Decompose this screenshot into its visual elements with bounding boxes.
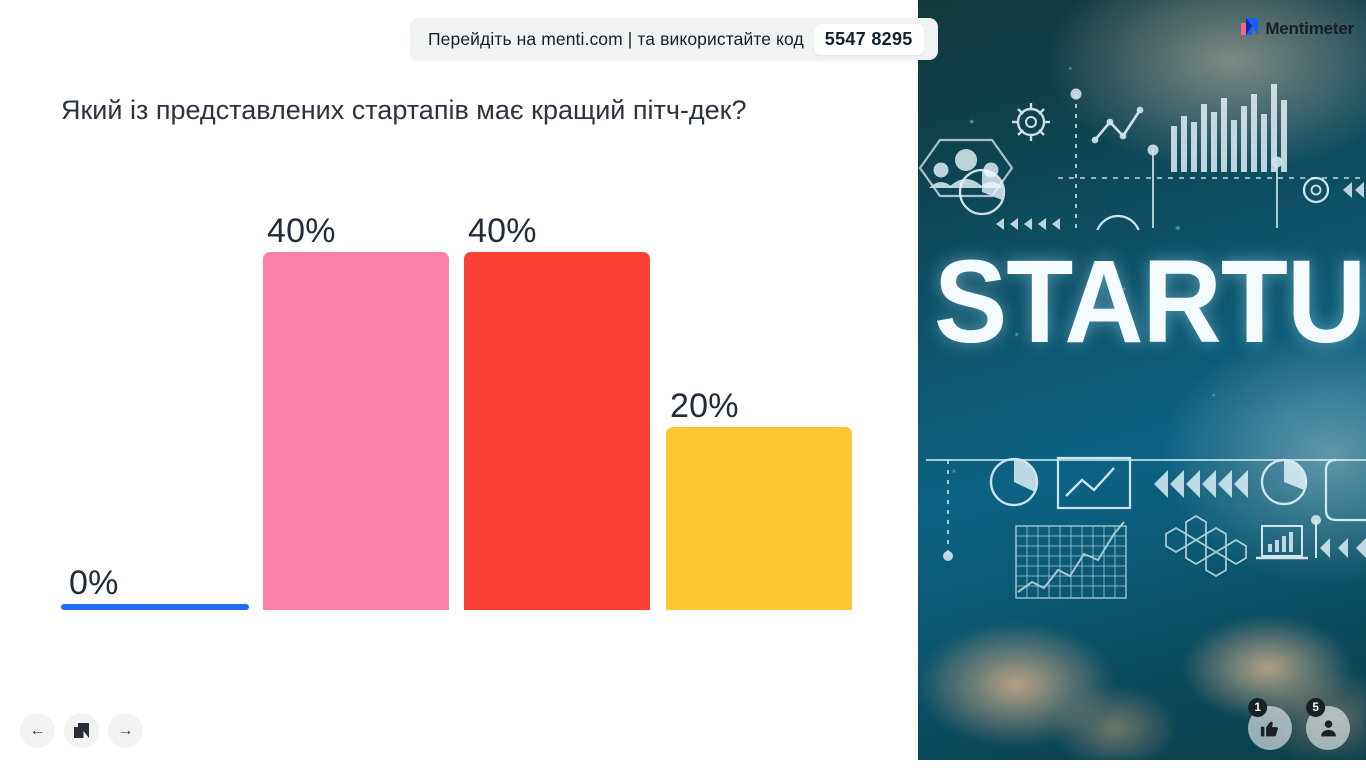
participants-count-button[interactable]: 5	[1306, 706, 1350, 750]
join-instruction-banner: Перейдіть на menti.com | та використайте…	[410, 18, 938, 60]
arrow-right-icon: →	[118, 722, 134, 740]
mentimeter-menu-button[interactable]	[64, 713, 99, 748]
bar-column: 40%	[263, 180, 449, 610]
bar-rect	[464, 252, 650, 610]
mentimeter-brand: Mentimeter	[1241, 18, 1354, 40]
thumbs-up-icon	[1260, 718, 1281, 739]
bar-rect	[61, 604, 249, 610]
person-icon	[1318, 718, 1339, 739]
bar-value-label: 0%	[61, 564, 119, 602]
slide-navigation: ← →	[20, 713, 143, 748]
reaction-buttons: 1 5	[1248, 706, 1350, 750]
media-headline: STARTUP	[934, 246, 1366, 358]
bar-column: 20%	[666, 180, 852, 610]
join-code-pill: 5547 8295	[814, 24, 924, 55]
bar-value-label: 40%	[263, 212, 336, 250]
bar-value-label: 40%	[464, 212, 537, 250]
bar-column: 0%	[61, 180, 249, 610]
thumbs-up-count-badge: 1	[1248, 698, 1267, 717]
bar-rect	[666, 427, 852, 610]
mentimeter-m-logo-icon	[74, 723, 89, 738]
arrow-left-icon: ←	[30, 722, 46, 740]
thumbs-up-reaction-button[interactable]: 1	[1248, 706, 1292, 750]
slide-background-image: STARTUP	[918, 0, 1366, 760]
join-instruction-text: Перейдіть на menti.com | та використайте…	[428, 29, 804, 50]
bar-value-label: 20%	[666, 387, 739, 425]
previous-slide-button[interactable]: ←	[20, 713, 55, 748]
infographic-pie-icon	[918, 150, 1366, 230]
mentimeter-m-logo-icon	[1241, 18, 1258, 40]
next-slide-button[interactable]: →	[108, 713, 143, 748]
mentimeter-wordmark: Mentimeter	[1265, 19, 1354, 39]
question-title: Який із представлених стартапів має кращ…	[61, 93, 881, 127]
bar-rect	[263, 252, 449, 610]
participants-count-badge: 5	[1306, 698, 1325, 717]
bar-column: 40%	[464, 180, 650, 610]
results-bar-chart: 0% FindBabushka 40% What`s next 40% Mind…	[61, 180, 861, 610]
